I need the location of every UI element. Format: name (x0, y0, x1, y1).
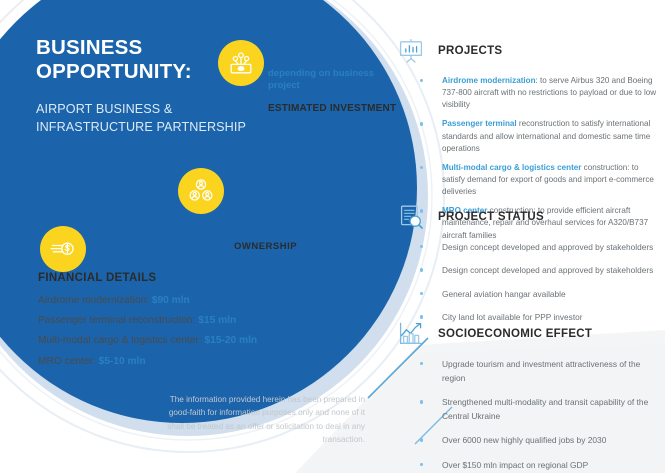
investment-amount-row: $15-90mln (268, 34, 398, 61)
list-item: Passenger terminal reconstruction to sat… (396, 118, 658, 154)
financial-row: Passenger terminal reconstruction: $15 m… (38, 316, 328, 326)
list-item: Airdrome modernization: to serve Airbus … (396, 75, 658, 111)
list-item: Design concept developed and approved by… (396, 241, 658, 253)
financial-row: Multi-modal cargo & logistics center: $1… (38, 336, 328, 346)
financial-row-label: Airdrome modernization: (38, 295, 149, 306)
project-status-header: PROJECT STATUS (396, 200, 658, 234)
document-search-icon (396, 202, 426, 232)
list-item: Over $150 mln impact on regional GDP (396, 459, 658, 473)
investment-label: ESTIMATED INVESTMENT (268, 102, 398, 115)
projects-title: PROJECTS (438, 45, 502, 57)
socioeconomic-list: Upgrade tourism and investment attractiv… (396, 358, 658, 473)
money-icon-glyph (227, 49, 255, 77)
investment-unit: mln (349, 44, 372, 59)
presentation-chart-icon (396, 36, 426, 66)
project-term: Passenger terminal (442, 119, 517, 128)
financial-row-value: $15-20 mln (204, 335, 257, 346)
money-icon (218, 40, 264, 86)
disclaimer-text: The information provided herein has been… (150, 393, 365, 446)
infographic-canvas: BUSINESS OPPORTUNITY: AIRPORT BUSINESS &… (0, 0, 665, 473)
financial-row-label: Multi-modal cargo & logistics center: (38, 335, 202, 346)
people-group-icon-glyph (187, 177, 215, 205)
project-status-title: PROJECT STATUS (438, 211, 544, 223)
socioeconomic-section: SOCIOECONOMIC EFFECT Upgrade tourism and… (396, 317, 658, 473)
financial-details-block: FINANCIAL DETAILS Airdrome modernization… (38, 272, 328, 377)
socioeconomic-title: SOCIOECONOMIC EFFECT (438, 328, 592, 340)
investment-block: $15-90mln depending on business project … (268, 34, 398, 115)
financial-row: MRO center: $5-10 mln (38, 357, 328, 367)
list-item: Over 6000 new highly qualified jobs by 2… (396, 434, 658, 448)
list-item: Design concept developed and approved by… (396, 264, 658, 276)
project-term: Multi-modal cargo & logistics center (442, 163, 581, 172)
investment-amount: $15-90 (268, 32, 346, 62)
socioeconomic-header: SOCIOECONOMIC EFFECT (396, 317, 658, 351)
financial-row-value: $90 mln (152, 295, 190, 306)
financial-row-value: $15 mln (198, 315, 236, 326)
list-item: General aviation hangar available (396, 288, 658, 300)
money-coin-icon-glyph (49, 235, 77, 263)
project-term: Airdrome modernization (442, 76, 536, 85)
list-item: Upgrade tourism and investment attractiv… (396, 358, 658, 385)
investment-note: depending on business project (268, 68, 398, 93)
list-item: Strengthened multi-modality and transit … (396, 396, 658, 423)
financial-details-heading: FINANCIAL DETAILS (38, 272, 328, 284)
presentation-chart-icon-glyph (397, 37, 425, 65)
ownership-label: OWNERSHIP (234, 241, 384, 252)
projects-header: PROJECTS (396, 34, 658, 68)
people-group-icon (178, 168, 224, 214)
ownership-value: Vinnytsya City Council and/or PPP (234, 172, 384, 230)
growth-chart-icon-glyph (397, 320, 425, 348)
list-item: Multi-modal cargo & logistics center con… (396, 162, 658, 198)
financial-row-label: MRO center: (38, 356, 96, 367)
hero-block: BUSINESS OPPORTUNITY: AIRPORT BUSINESS &… (36, 36, 251, 137)
project-status-list: Design concept developed and approved by… (396, 241, 658, 324)
page-subtitle: AIRPORT BUSINESS & INFRASTRUCTURE PARTNE… (36, 101, 251, 137)
growth-chart-icon (396, 319, 426, 349)
money-coin-icon (40, 226, 86, 272)
document-search-icon-glyph (397, 203, 425, 231)
financial-row: Airdrome modernization: $90 mln (38, 296, 328, 306)
financial-row-value: $5-10 mln (99, 356, 146, 367)
ownership-block: Vinnytsya City Council and/or PPP OWNERS… (234, 172, 384, 252)
financial-row-label: Passenger terminal reconstruction: (38, 315, 195, 326)
